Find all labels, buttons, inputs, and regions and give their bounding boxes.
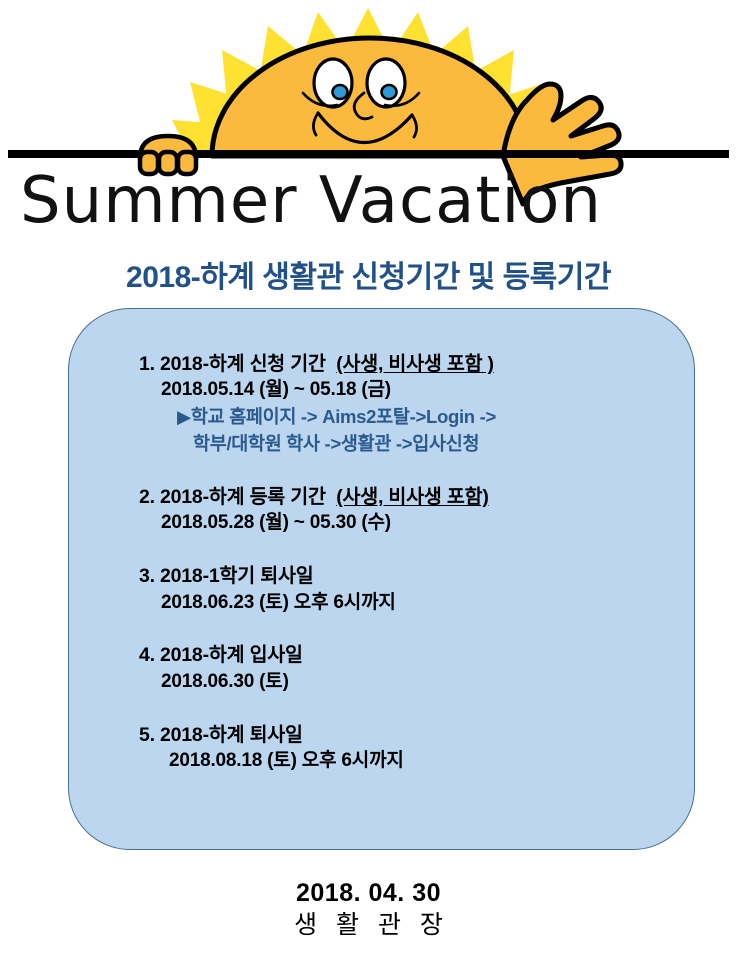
horizon-line [8,150,729,158]
item-heading: 4.2018-하계 입사일 [139,642,670,668]
list-item: 1.2018-하계 신청 기간 (사생, 비사생 포함 ) 2018.05.14… [139,351,670,458]
item-date: 2018.06.23 (토) 오후 6시까지 [139,590,670,617]
item-heading-note: (사생, 비사생 포함 ) [336,353,494,375]
item-number: 5. [139,722,160,748]
item-heading-main: 2018-하계 입사일 [160,644,303,666]
item-number: 4. [139,642,160,668]
list-item: 5.2018-하계 퇴사일 2018.08.18 (토) 오후 6시까지 [139,722,670,775]
item-number: 1. [139,351,160,377]
list-item: 2.2018-하계 등록 기간 (사생, 비사생 포함) 2018.05.28 … [139,484,670,537]
footer-signer: 생 활 관 장 [0,909,737,942]
item-heading: 5.2018-하계 퇴사일 [139,722,670,748]
item-date: 2018.06.30 (토) [139,669,670,696]
item-heading: 2.2018-하계 등록 기간 (사생, 비사생 포함) [139,484,670,510]
item-heading: 1.2018-하계 신청 기간 (사생, 비사생 포함 ) [139,351,670,377]
item-heading-main: 2018-하계 퇴사일 [160,724,303,746]
item-date: 2018.05.14 (월) ~ 05.18 (금) [139,377,670,404]
item-date: 2018.05.28 (월) ~ 05.30 (수) [139,510,670,537]
item-number: 3. [139,563,160,589]
summer-vacation-wordmark: Summer Vacation [20,164,602,238]
item-heading-main: 2018-1학기 퇴사일 [160,565,313,587]
item-date: 2018.08.18 (토) 오후 6시까지 [139,748,670,775]
item-path-line-2: 학부/대학원 학사 ->생활관 ->입사신청 [139,431,670,458]
item-number: 2. [139,484,160,510]
header-artwork: Summer Vacation [0,0,737,240]
item-heading-note: (사생, 비사생 포함) [336,486,488,508]
item-heading: 3.2018-1학기 퇴사일 [139,563,670,589]
item-heading-main: 2018-하계 신청 기간 [160,353,326,375]
page-title: 2018-하계 생활관 신청기간 및 등록기간 [0,252,737,296]
item-path-line-1: ▶학교 홈페이지 -> Aims2포탈->Login -> [139,404,670,431]
schedule-list: 1.2018-하계 신청 기간 (사생, 비사생 포함 ) 2018.05.14… [139,351,670,775]
list-item: 4.2018-하계 입사일 2018.06.30 (토) [139,642,670,695]
list-item: 3.2018-1학기 퇴사일 2018.06.23 (토) 오후 6시까지 [139,563,670,616]
footer-date: 2018. 04. 30 [0,878,737,909]
item-heading-main: 2018-하계 등록 기간 [160,486,326,508]
footer: 2018. 04. 30 생 활 관 장 [0,878,737,942]
info-panel: 1.2018-하계 신청 기간 (사생, 비사생 포함 ) 2018.05.14… [68,308,695,850]
